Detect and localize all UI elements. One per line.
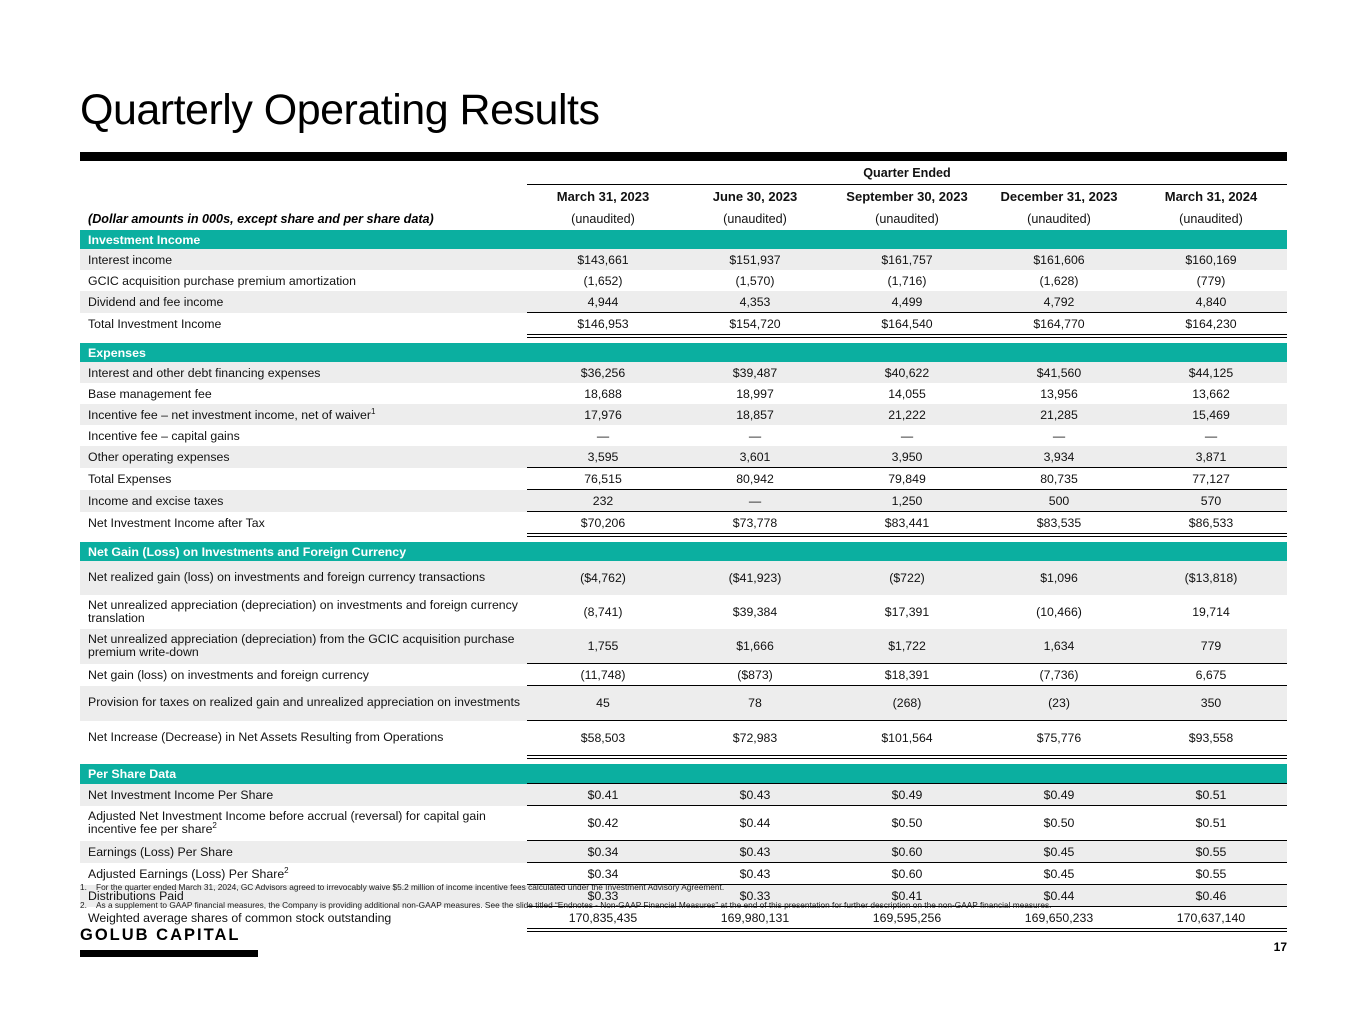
- column-date-3: December 31, 2023: [983, 185, 1135, 209]
- column-status-0: (unaudited): [527, 208, 679, 230]
- table-row: Interest and other debt financing expens…: [80, 362, 1287, 383]
- cell-r1-c0: (1,652): [527, 270, 679, 291]
- cell-r2-c2: $0.60: [831, 841, 983, 863]
- cell-r5-c2: 79,849: [831, 468, 983, 490]
- column-date-1: June 30, 2023: [679, 185, 831, 209]
- units-note: (Dollar amounts in 000s, except share an…: [80, 208, 527, 230]
- column-status-1: (unaudited): [679, 208, 831, 230]
- row-label: Interest and other debt financing expens…: [80, 362, 527, 383]
- table-row: Net gain (loss) on investments and forei…: [80, 664, 1287, 686]
- cell-r5-c3: 80,735: [983, 468, 1135, 490]
- row-label-text: Adjusted Earnings (Loss) Per Share: [88, 867, 284, 881]
- row-label: Provision for taxes on realized gain and…: [80, 686, 527, 721]
- cell-r7-c1: $73,778: [679, 512, 831, 534]
- row-label-text: GCIC acquisition purchase premium amorti…: [88, 274, 356, 288]
- section-title: Net Gain (Loss) on Investments and Forei…: [80, 542, 1287, 561]
- section-gap: [80, 335, 1287, 344]
- row-label: Net unrealized appreciation (depreciatio…: [80, 595, 527, 629]
- cell-r3-c2: —: [831, 425, 983, 446]
- row-label-text: Interest and other debt financing expens…: [88, 366, 320, 380]
- cell-r0-c2: $161,757: [831, 249, 983, 270]
- cell-r0-c2: $0.49: [831, 784, 983, 806]
- column-status-3: (unaudited): [983, 208, 1135, 230]
- cell-r1-c3: $0.50: [983, 806, 1135, 841]
- cell-r4-c2: 3,950: [831, 446, 983, 468]
- row-label: GCIC acquisition purchase premium amorti…: [80, 270, 527, 291]
- cell-r3-c0: —: [527, 425, 679, 446]
- cell-r1-c2: $0.50: [831, 806, 983, 841]
- cell-r0-c2: ($722): [831, 561, 983, 595]
- cell-r0-c3: $41,560: [983, 362, 1135, 383]
- cell-r4-c0: 3,595: [527, 446, 679, 468]
- cell-r2-c1: $1,666: [679, 629, 831, 664]
- table-row: Incentive fee – net investment income, n…: [80, 404, 1287, 425]
- cell-r7-c4: $86,533: [1135, 512, 1287, 534]
- table-row: Earnings (Loss) Per Share$0.34$0.43$0.60…: [80, 841, 1287, 863]
- cell-r4-c1: 78: [679, 686, 831, 721]
- cell-r1-c2: $17,391: [831, 595, 983, 629]
- cell-r4-c0: 45: [527, 686, 679, 721]
- table-row: Net Investment Income Per Share$0.41$0.4…: [80, 784, 1287, 806]
- column-status-row: (Dollar amounts in 000s, except share an…: [80, 208, 1287, 230]
- group-header-label: Quarter Ended: [527, 161, 1287, 185]
- row-label-text: Earnings (Loss) Per Share: [88, 845, 233, 859]
- row-label: Net Increase (Decrease) in Net Assets Re…: [80, 721, 527, 756]
- section-header-net-gain-loss-on-investments-and-foreign-curre: Net Gain (Loss) on Investments and Forei…: [80, 542, 1287, 561]
- cell-r0-c3: $0.49: [983, 784, 1135, 806]
- cell-r2-c0: 4,944: [527, 291, 679, 313]
- cell-r4-c3: 3,934: [983, 446, 1135, 468]
- footnote-2-number: 2.: [80, 900, 96, 911]
- cell-r1-c4: 13,662: [1135, 383, 1287, 404]
- table-row: Net Investment Income after Tax$70,206$7…: [80, 512, 1287, 534]
- cell-r1-c3: 13,956: [983, 383, 1135, 404]
- cell-r1-c2: (1,716): [831, 270, 983, 291]
- cell-r2-c1: $0.43: [679, 841, 831, 863]
- cell-r2-c4: 15,469: [1135, 404, 1287, 425]
- cell-r7-c2: $83,441: [831, 512, 983, 534]
- cell-r0-c1: $151,937: [679, 249, 831, 270]
- cell-r3-c0: (11,748): [527, 664, 679, 686]
- cell-r0-c3: $1,096: [983, 561, 1135, 595]
- cell-r3-c2: $18,391: [831, 664, 983, 686]
- footnote-marker: 2: [284, 865, 288, 874]
- cell-r2-c1: 18,857: [679, 404, 831, 425]
- cell-r2-c3: $0.45: [983, 841, 1135, 863]
- table-row: Total Investment Income$146,953$154,720$…: [80, 313, 1287, 335]
- logo-rule: [80, 950, 258, 957]
- cell-r3-c4: $164,230: [1135, 313, 1287, 335]
- cell-r0-c4: $160,169: [1135, 249, 1287, 270]
- table-row: Total Expenses76,51580,94279,84980,73577…: [80, 468, 1287, 490]
- cell-r2-c1: 4,353: [679, 291, 831, 313]
- row-label-text: Net realized gain (loss) on investments …: [88, 570, 485, 584]
- cell-r3-c4: —: [1135, 425, 1287, 446]
- cell-r3-c3: (7,736): [983, 664, 1135, 686]
- cell-r2-c4: 4,840: [1135, 291, 1287, 313]
- section-header-expenses: Expenses: [80, 343, 1287, 362]
- cell-r2-c4: 779: [1135, 629, 1287, 664]
- cell-r3-c3: $164,770: [983, 313, 1135, 335]
- cell-r2-c3: 4,792: [983, 291, 1135, 313]
- table-row: Net Increase (Decrease) in Net Assets Re…: [80, 721, 1287, 756]
- cell-r5-c4: 77,127: [1135, 468, 1287, 490]
- section-gap: [80, 534, 1287, 543]
- row-label-text: Adjusted Net Investment Income before ac…: [88, 809, 486, 837]
- row-label-text: Net unrealized appreciation (depreciatio…: [88, 598, 518, 626]
- cell-r4-c1: 3,601: [679, 446, 831, 468]
- row-label: Dividend and fee income: [80, 291, 527, 313]
- table-row: Interest income$143,661$151,937$161,757$…: [80, 249, 1287, 270]
- footnote-marker: 1: [371, 406, 375, 415]
- cell-r0-c1: $39,487: [679, 362, 831, 383]
- cell-r0-c4: ($13,818): [1135, 561, 1287, 595]
- cell-r2-c2: 21,222: [831, 404, 983, 425]
- cell-r3-c1: $154,720: [679, 313, 831, 335]
- cell-r1-c3: (10,466): [983, 595, 1135, 629]
- cell-r1-c0: (8,741): [527, 595, 679, 629]
- footnotes: 1. For the quarter ended March 31, 2024,…: [80, 882, 1290, 918]
- cell-r5-c0: 76,515: [527, 468, 679, 490]
- cell-r1-c1: 18,997: [679, 383, 831, 404]
- column-date-4: March 31, 2024: [1135, 185, 1287, 209]
- row-label: Total Investment Income: [80, 313, 527, 335]
- footnote-1-text: For the quarter ended March 31, 2024, GC…: [96, 882, 1290, 893]
- cell-r6-c1: —: [679, 490, 831, 512]
- cell-r0-c1: $0.43: [679, 784, 831, 806]
- column-status-4: (unaudited): [1135, 208, 1287, 230]
- cell-r6-c2: 1,250: [831, 490, 983, 512]
- footnote-2-text: As a supplement to GAAP financial measur…: [96, 900, 1290, 911]
- row-label: Base management fee: [80, 383, 527, 404]
- page-title: Quarterly Operating Results: [80, 86, 599, 135]
- table-row: Base management fee18,68818,99714,05513,…: [80, 383, 1287, 404]
- row-label: Net gain (loss) on investments and forei…: [80, 664, 527, 686]
- row-label-text: Interest income: [88, 253, 172, 267]
- cell-r1-c2: 14,055: [831, 383, 983, 404]
- section-gap: [80, 756, 1287, 765]
- cell-r3-c1: —: [679, 425, 831, 446]
- table-row: Provision for taxes on realized gain and…: [80, 686, 1287, 721]
- group-header-spacer: [80, 161, 527, 185]
- table-row: Dividend and fee income4,9444,3534,4994,…: [80, 291, 1287, 313]
- cell-r2-c4: $0.55: [1135, 841, 1287, 863]
- section-title: Per Share Data: [80, 764, 1287, 784]
- cell-r2-c0: 1,755: [527, 629, 679, 664]
- table-row: Net realized gain (loss) on investments …: [80, 561, 1287, 595]
- row-label-text: Income and excise taxes: [88, 494, 223, 508]
- row-label-text: Incentive fee – capital gains: [88, 429, 240, 443]
- column-dates-row: March 31, 2023June 30, 2023September 30,…: [80, 185, 1287, 209]
- row-label-text: Base management fee: [88, 387, 212, 401]
- row-label-text: Net Increase (Decrease) in Net Assets Re…: [88, 730, 443, 744]
- column-status-2: (unaudited): [831, 208, 983, 230]
- cell-r2-c2: $1,722: [831, 629, 983, 664]
- footnote-2: 2. As a supplement to GAAP financial mea…: [80, 900, 1290, 911]
- row-label-text: Net unrealized appreciation (depreciatio…: [88, 632, 515, 660]
- cell-r4-c4: 3,871: [1135, 446, 1287, 468]
- cell-r0-c4: $44,125: [1135, 362, 1287, 383]
- cell-r0-c0: $143,661: [527, 249, 679, 270]
- cell-r6-c4: 570: [1135, 490, 1287, 512]
- financial-table: Quarter EndedMarch 31, 2023June 30, 2023…: [80, 152, 1287, 929]
- cell-r1-c4: $0.51: [1135, 806, 1287, 841]
- table-row: GCIC acquisition purchase premium amorti…: [80, 270, 1287, 291]
- cell-r3-c4: 6,675: [1135, 664, 1287, 686]
- row-label: Incentive fee – net investment income, n…: [80, 404, 527, 425]
- cell-r2-c3: 21,285: [983, 404, 1135, 425]
- section-header-investment-income: Investment Income: [80, 230, 1287, 249]
- cell-r1-c0: 18,688: [527, 383, 679, 404]
- cell-r5-c4: $93,558: [1135, 721, 1287, 756]
- table-row: Incentive fee – capital gains—————: [80, 425, 1287, 446]
- table-top-rule: [80, 152, 1287, 161]
- section-title: Expenses: [80, 343, 1287, 362]
- table-row: Adjusted Net Investment Income before ac…: [80, 806, 1287, 841]
- cell-r0-c3: $161,606: [983, 249, 1135, 270]
- row-label: Income and excise taxes: [80, 490, 527, 512]
- row-label-text: Other operating expenses: [88, 450, 230, 464]
- row-label: Net Investment Income after Tax: [80, 512, 527, 534]
- row-label-text: Provision for taxes on realized gain and…: [88, 695, 520, 709]
- cell-r3-c2: $164,540: [831, 313, 983, 335]
- table-row: Income and excise taxes232—1,250500570: [80, 490, 1287, 512]
- column-date-0: March 31, 2023: [527, 185, 679, 209]
- golub-capital-logo: GOLUB CAPITAL: [80, 926, 258, 957]
- cell-r5-c2: $101,564: [831, 721, 983, 756]
- row-label: Other operating expenses: [80, 446, 527, 468]
- cell-r1-c1: $0.44: [679, 806, 831, 841]
- group-header-row: Quarter Ended: [80, 161, 1287, 185]
- cell-r0-c1: ($41,923): [679, 561, 831, 595]
- table-row: Net unrealized appreciation (depreciatio…: [80, 595, 1287, 629]
- cell-r5-c1: $72,983: [679, 721, 831, 756]
- cell-r5-c1: 80,942: [679, 468, 831, 490]
- row-label-text: Dividend and fee income: [88, 295, 223, 309]
- row-label-text: Total Investment Income: [88, 317, 221, 331]
- row-label: Incentive fee – capital gains: [80, 425, 527, 446]
- row-label-text: Total Expenses: [88, 472, 171, 486]
- row-label: Net realized gain (loss) on investments …: [80, 561, 527, 595]
- cell-r1-c1: $39,384: [679, 595, 831, 629]
- cell-r1-c0: $0.42: [527, 806, 679, 841]
- row-label: Earnings (Loss) Per Share: [80, 841, 527, 863]
- cell-r2-c0: 17,976: [527, 404, 679, 425]
- row-label-text: Incentive fee – net investment income, n…: [88, 408, 371, 422]
- row-label: Net unrealized appreciation (depreciatio…: [80, 629, 527, 664]
- footnote-1: 1. For the quarter ended March 31, 2024,…: [80, 882, 1290, 893]
- row-label: Total Expenses: [80, 468, 527, 490]
- cell-r1-c4: (779): [1135, 270, 1287, 291]
- row-label: Adjusted Net Investment Income before ac…: [80, 806, 527, 841]
- row-label: Interest income: [80, 249, 527, 270]
- section-title: Investment Income: [80, 230, 1287, 249]
- cell-r2-c2: 4,499: [831, 291, 983, 313]
- cell-r1-c1: (1,570): [679, 270, 831, 291]
- cell-r5-c0: $58,503: [527, 721, 679, 756]
- cell-r3-c3: —: [983, 425, 1135, 446]
- table-row: Other operating expenses3,5953,6013,9503…: [80, 446, 1287, 468]
- cell-r4-c4: 350: [1135, 686, 1287, 721]
- cell-r5-c3: $75,776: [983, 721, 1135, 756]
- cell-r4-c3: (23): [983, 686, 1135, 721]
- row-label-text: Net Investment Income after Tax: [88, 516, 265, 530]
- column-date-2: September 30, 2023: [831, 185, 983, 209]
- cell-r4-c2: (268): [831, 686, 983, 721]
- cell-r2-c3: 1,634: [983, 629, 1135, 664]
- page-number: 17: [1274, 940, 1287, 954]
- cell-r3-c1: ($873): [679, 664, 831, 686]
- row-label: Net Investment Income Per Share: [80, 784, 527, 806]
- cell-r7-c0: $70,206: [527, 512, 679, 534]
- cell-r0-c0: $0.41: [527, 784, 679, 806]
- cell-r2-c0: $0.34: [527, 841, 679, 863]
- cell-r6-c0: 232: [527, 490, 679, 512]
- cell-r0-c2: $40,622: [831, 362, 983, 383]
- cell-r0-c0: $36,256: [527, 362, 679, 383]
- row-label-text: Net gain (loss) on investments and forei…: [88, 668, 369, 682]
- logo-wordmark: GOLUB CAPITAL: [80, 926, 258, 945]
- row-label-text: Net Investment Income Per Share: [88, 788, 273, 802]
- cell-r3-c0: $146,953: [527, 313, 679, 335]
- table-row: Net unrealized appreciation (depreciatio…: [80, 629, 1287, 664]
- cell-r1-c4: 19,714: [1135, 595, 1287, 629]
- cell-r6-c3: 500: [983, 490, 1135, 512]
- footnote-1-number: 1.: [80, 882, 96, 893]
- cell-r0-c4: $0.51: [1135, 784, 1287, 806]
- quarterly-results-table: Quarter EndedMarch 31, 2023June 30, 2023…: [80, 152, 1287, 929]
- section-header-per-share-data: Per Share Data: [80, 764, 1287, 784]
- footnote-marker: 2: [212, 821, 216, 830]
- cell-r7-c3: $83,535: [983, 512, 1135, 534]
- cell-r1-c3: (1,628): [983, 270, 1135, 291]
- cell-r0-c0: ($4,762): [527, 561, 679, 595]
- slide-root: Quarterly Operating Results Quarter Ende…: [0, 0, 1365, 1024]
- dates-spacer: [80, 185, 527, 209]
